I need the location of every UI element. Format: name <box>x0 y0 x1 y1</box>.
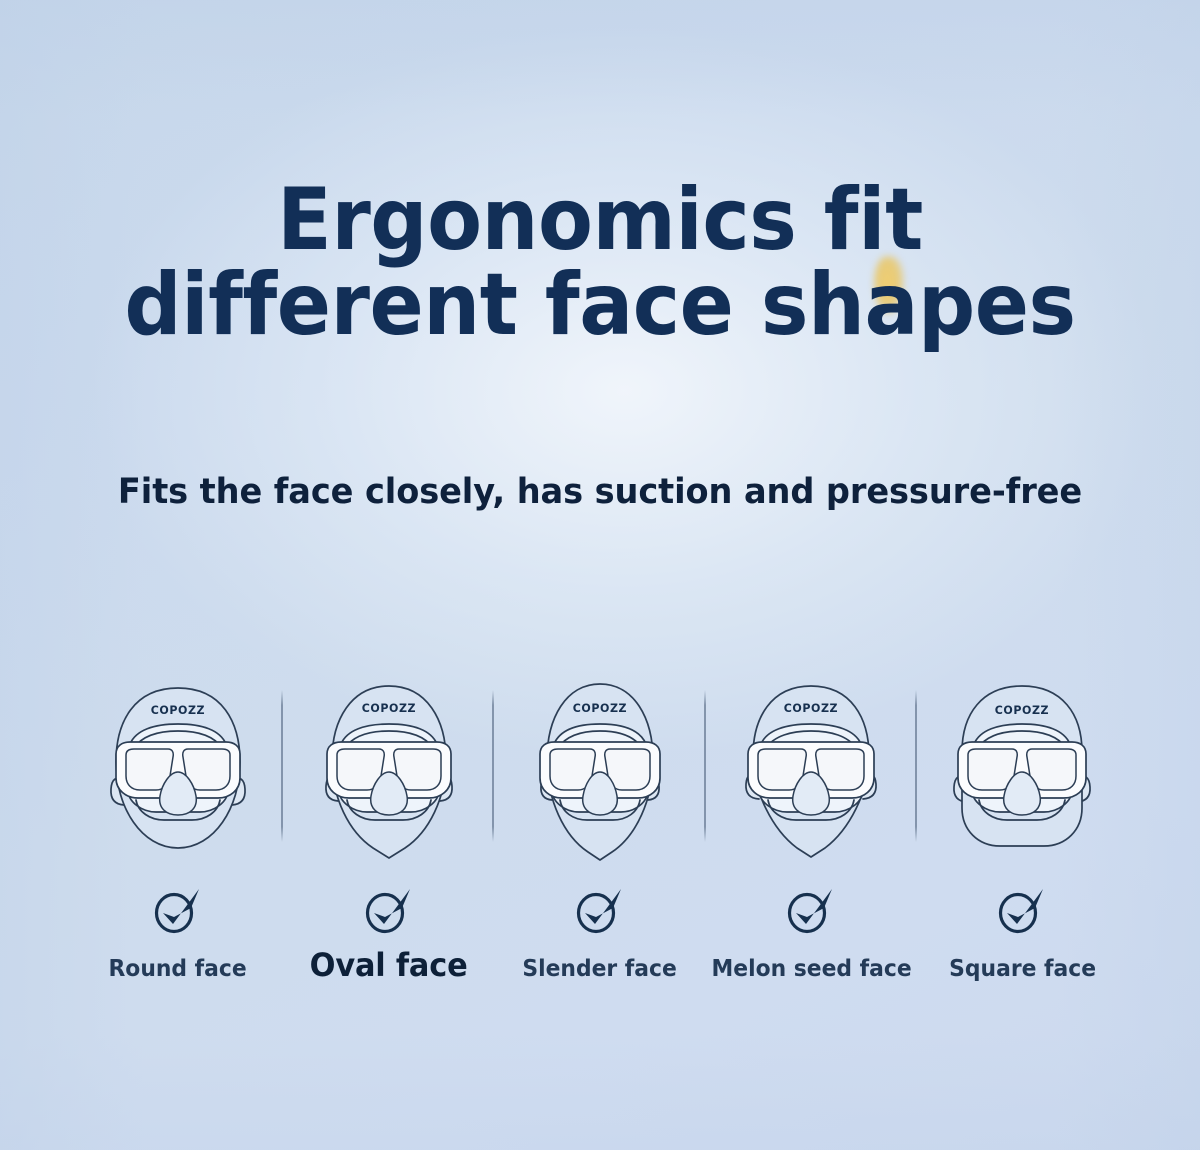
mask-on-oval-face-illustration: COPOZZ <box>301 672 477 868</box>
brand-label: COPOZZ <box>150 704 204 717</box>
face-shape-item-slender[interactable]: COPOZZ <box>494 672 705 872</box>
check-cell-square <box>917 882 1128 938</box>
mask-on-slender-face-illustration: COPOZZ <box>512 672 688 868</box>
face-shape-item-oval[interactable]: COPOZZ <box>283 672 494 872</box>
face-shape-label-round: Round face <box>77 956 278 982</box>
headline-line-1: Ergonomics fit <box>42 178 1158 263</box>
check-circle-icon <box>994 884 1050 936</box>
brand-label: COPOZZ <box>784 702 838 715</box>
page-subtitle: Fits the face closely, has suction and p… <box>24 472 1176 512</box>
brand-label: COPOZZ <box>573 702 627 715</box>
face-shape-label-oval: Oval face <box>288 946 489 984</box>
face-shape-gallery: COPOZZ COPOZZ <box>72 672 1128 872</box>
mask-on-round-face-illustration: COPOZZ <box>90 672 266 868</box>
brand-label: COPOZZ <box>995 704 1049 717</box>
mask-on-melon-seed-face-illustration: COPOZZ <box>723 672 899 868</box>
face-shape-item-round[interactable]: COPOZZ <box>72 672 283 872</box>
headline-line-2: different face shapes <box>42 263 1158 348</box>
face-shape-label-melon-seed: Melon seed face <box>711 956 912 982</box>
check-circle-icon <box>572 884 628 936</box>
check-cell-oval <box>283 882 494 938</box>
check-cell-round <box>72 882 283 938</box>
product-feature-banner: Ergonomics fit different face shapes Fit… <box>0 0 1200 1150</box>
mask-on-square-face-illustration: COPOZZ <box>934 672 1110 868</box>
brand-label: COPOZZ <box>362 702 416 715</box>
check-cell-slender <box>494 882 705 938</box>
face-shape-item-melon-seed[interactable]: COPOZZ <box>706 672 917 872</box>
check-circle-icon <box>361 884 417 936</box>
headline-block: Ergonomics fit different face shapes <box>0 178 1200 348</box>
face-shape-label-row: Round face Oval face Slender face Melon … <box>72 946 1128 992</box>
face-shape-label-square: Square face <box>922 956 1123 982</box>
face-shape-label-slender: Slender face <box>500 956 701 982</box>
check-cell-melon-seed <box>706 882 917 938</box>
page-title: Ergonomics fit different face shapes <box>42 178 1158 348</box>
face-shape-item-square[interactable]: COPOZZ <box>917 672 1128 872</box>
check-icon-row <box>72 882 1128 938</box>
check-circle-icon <box>150 884 206 936</box>
check-circle-icon <box>783 884 839 936</box>
